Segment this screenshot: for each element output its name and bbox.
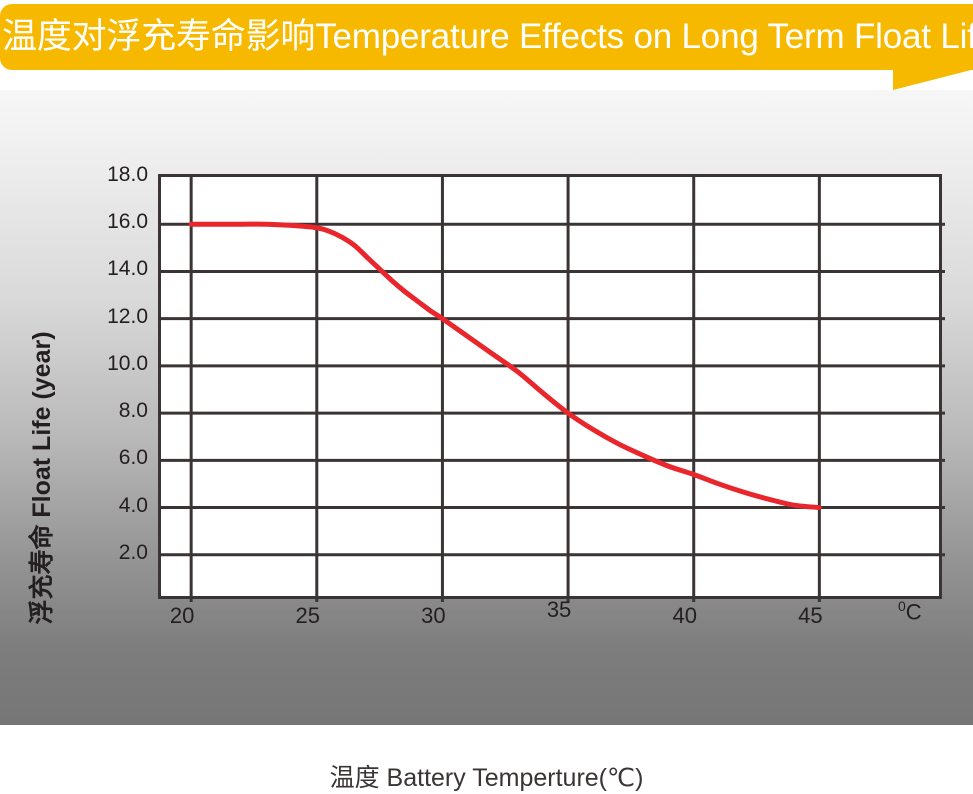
degree-superscript: 0 <box>898 598 906 614</box>
y-axis-tick-label: 4.0 <box>88 495 148 516</box>
y-axis-tick-label: 16.0 <box>88 211 148 232</box>
title-banner: 温度对浮充寿命影响Temperature Effects on Long Ter… <box>0 4 973 70</box>
y-axis-tick-label: 12.0 <box>88 306 148 327</box>
chart-page: 温度对浮充寿命影响Temperature Effects on Long Ter… <box>0 0 973 725</box>
page-title: 温度对浮充寿命影响Temperature Effects on Long Ter… <box>2 4 973 70</box>
x-axis-tick-label: 45 <box>780 603 840 629</box>
y-axis-tick-label: 14.0 <box>88 258 148 279</box>
y-axis-tick-label: 18.0 <box>88 164 148 185</box>
title-banner-tail <box>893 69 973 90</box>
x-axis-tick-labels: 202530354045 <box>158 601 942 637</box>
x-axis-tick-label: 30 <box>403 603 463 629</box>
y-axis-tick-label: 10.0 <box>88 353 148 374</box>
x-axis-tick-label: 35 <box>529 597 589 623</box>
y-axis-tick-label: 2.0 <box>88 542 148 563</box>
plot-area <box>158 174 942 599</box>
y-axis-tick-label: 8.0 <box>88 400 148 421</box>
x-axis-tick-label: 40 <box>655 603 715 629</box>
y-axis-tick-labels: 2.04.06.08.010.012.014.016.018.0 <box>84 174 148 599</box>
grid-lines <box>161 177 945 602</box>
y-axis-tick-label: 6.0 <box>88 447 148 468</box>
x-axis-title: 温度 Battery Temperture(℃) <box>0 758 973 794</box>
x-axis-tick-label: 20 <box>152 603 212 629</box>
plot-svg <box>161 177 945 602</box>
x-axis-tick-label: 25 <box>278 603 338 629</box>
x-axis-unit-label: 0C <box>898 598 922 625</box>
y-axis-title: 浮充寿命 Float Life (year) <box>22 263 58 693</box>
